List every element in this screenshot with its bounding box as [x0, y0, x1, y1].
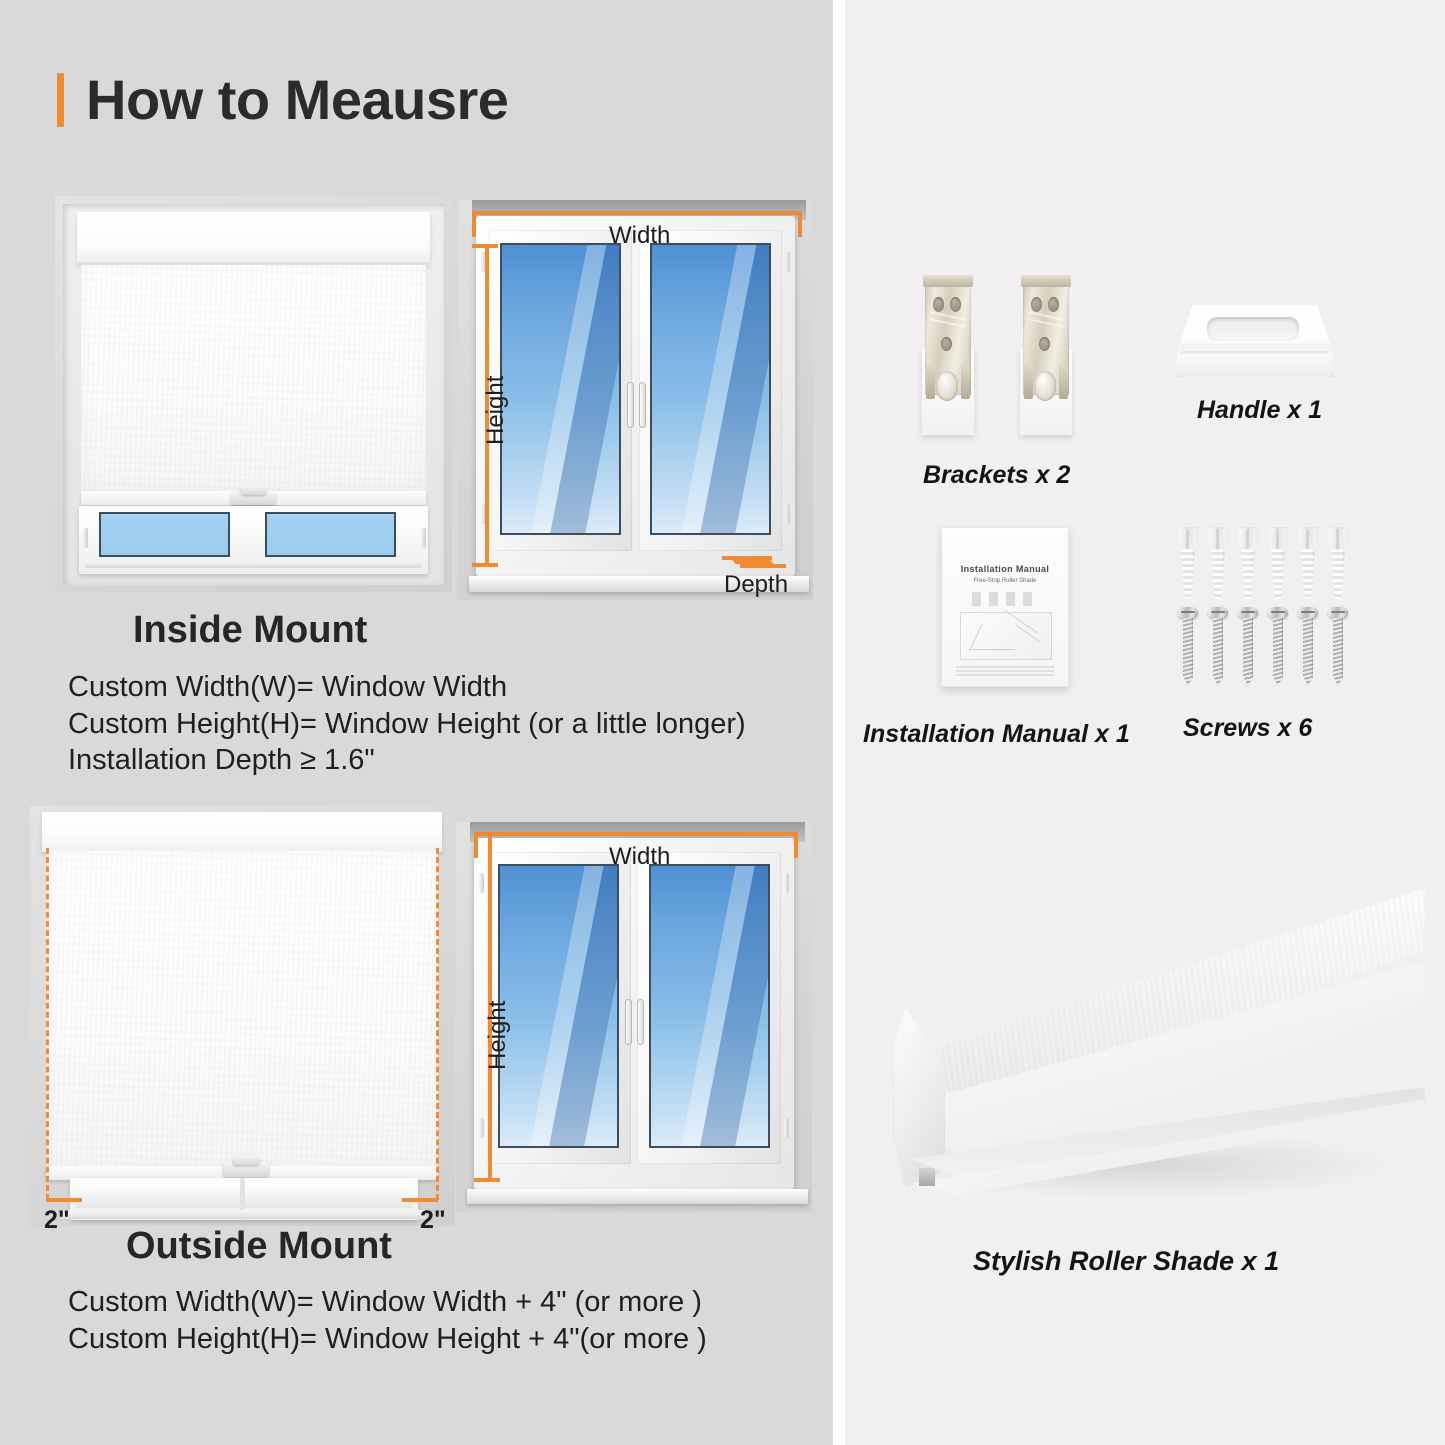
left-panel-heading: How to Meausre: [57, 72, 508, 128]
roller-shade-label: Stylish Roller Shade x 1: [973, 1246, 1279, 1277]
inside-mount-window-diagram: Width Height Depth: [458, 200, 813, 600]
outside-mount-line-1: Custom Width(W)= Window Width + 4" (or m…: [68, 1284, 707, 1321]
roller-shade-image: [865, 880, 1425, 1210]
screws-image: [1177, 527, 1359, 692]
installation-manual-image: Installation Manual Free-Stop Roller Sha…: [941, 527, 1069, 687]
width-label-inside: Width: [609, 222, 670, 250]
panel-divider: [833, 0, 845, 1445]
infographic-page: How to Meausre: [0, 0, 1445, 1445]
screw-icon: [1178, 607, 1198, 695]
overhang-guide-right: [436, 848, 439, 1200]
wall-anchor-icon: [1237, 527, 1259, 599]
manual-icon: Installation Manual Free-Stop Roller Sha…: [941, 527, 1069, 687]
brackets-label: Brackets x 2: [923, 461, 1070, 490]
handle-image: [1177, 305, 1333, 377]
inside-mount-title: Inside Mount: [133, 609, 367, 652]
screw-icon: [1298, 607, 1318, 695]
screws-label: Screws x 6: [1183, 714, 1312, 743]
outside-mount-text: Custom Width(W)= Window Width + 4" (or m…: [68, 1284, 707, 1357]
how-to-measure-panel: How to Meausre: [0, 0, 833, 1445]
screw-icon: [1238, 607, 1258, 695]
wall-anchor-icon: [1177, 527, 1199, 599]
screw-icon: [1208, 607, 1228, 695]
inside-mount-line-3: Installation Depth ≥ 1.6": [68, 742, 746, 779]
wall-anchor-icon: [1267, 527, 1289, 599]
overhang-label-right: 2": [420, 1206, 446, 1235]
overhang-label-left: 2": [44, 1206, 70, 1235]
manual-cover-title: Installation Manual: [942, 564, 1068, 574]
brackets-image: [920, 275, 1110, 450]
page-title: How to Meausre: [86, 72, 508, 128]
wall-anchor-icon: [1207, 527, 1229, 599]
accent-bar-icon: [57, 73, 64, 127]
depth-label-inside: Depth: [724, 571, 788, 599]
inside-mount-shade-illustration: [55, 196, 452, 592]
manual-cover-subtitle: Free-Stop Roller Shade: [942, 578, 1068, 584]
installation-manual-label: Installation Manual x 1: [863, 720, 1130, 749]
height-label-inside: Height: [482, 376, 510, 445]
height-label-outside: Height: [484, 1001, 512, 1070]
overhang-guide-left: [46, 848, 49, 1200]
bracket-icon: [1018, 275, 1074, 435]
wall-anchor-icon: [1297, 527, 1319, 599]
screw-icon: [1268, 607, 1288, 695]
inside-mount-line-2: Custom Height(H)= Window Height (or a li…: [68, 706, 746, 743]
outside-mount-shade-illustration: [30, 806, 455, 1226]
bracket-icon: [920, 275, 976, 435]
handle-label: Handle x 1: [1197, 396, 1322, 425]
outside-mount-title: Outside Mount: [126, 1225, 392, 1268]
inside-mount-text: Custom Width(W)= Window Width Custom Hei…: [68, 669, 746, 779]
width-label-outside: Width: [609, 843, 670, 871]
outside-mount-line-2: Custom Height(H)= Window Height + 4"(or …: [68, 1321, 707, 1358]
handle-icon: [1177, 305, 1333, 377]
wall-anchor-icon: [1327, 527, 1349, 599]
inside-mount-line-1: Custom Width(W)= Window Width: [68, 669, 746, 706]
package-contents-panel: What's in the package: [845, 0, 1445, 1445]
outside-mount-window-diagram: Width Height: [456, 822, 812, 1212]
screw-icon: [1328, 607, 1348, 695]
